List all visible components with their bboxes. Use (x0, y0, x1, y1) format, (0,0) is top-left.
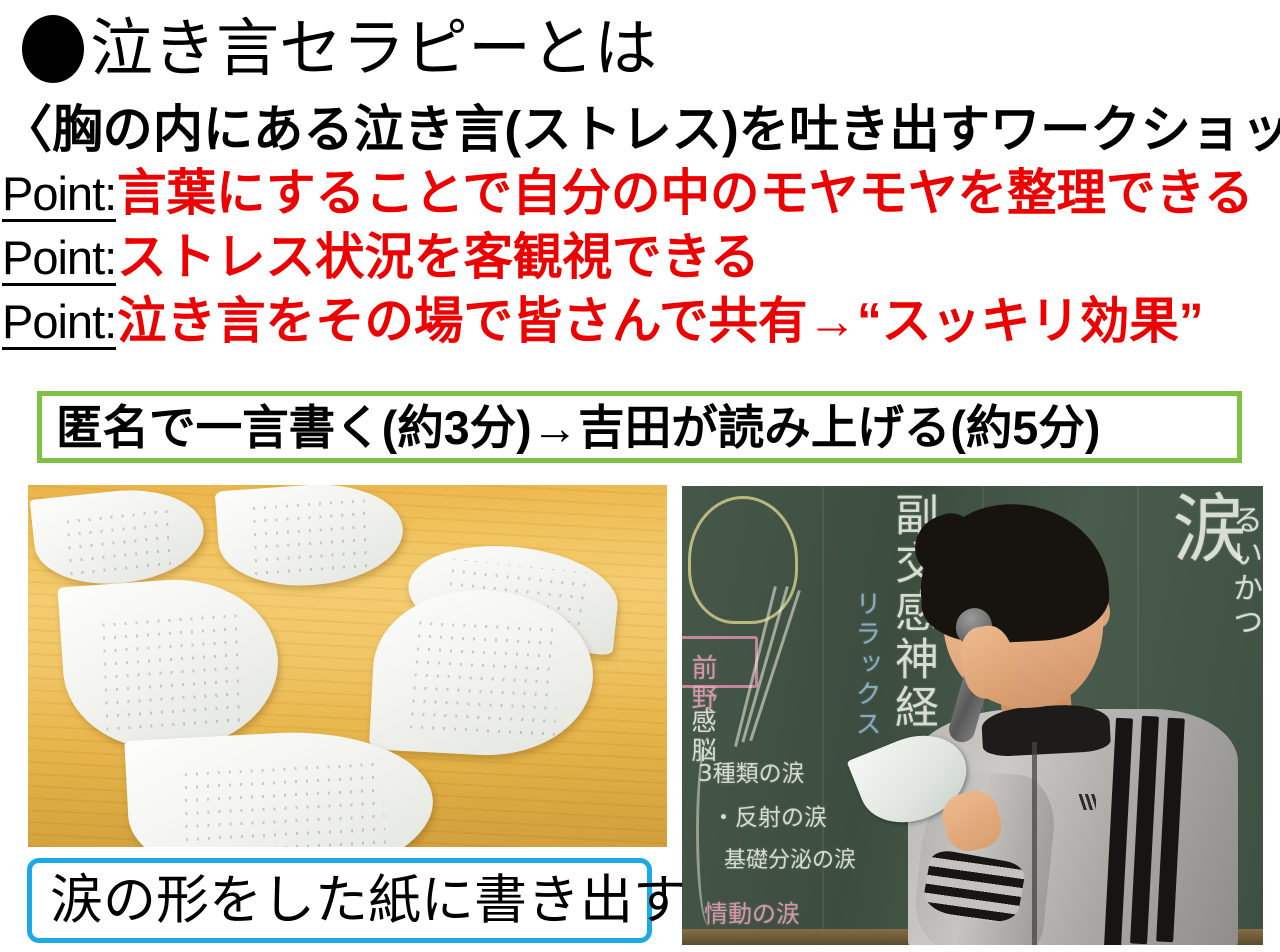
brand-logo-icon (1070, 794, 1096, 810)
blue-caption-text: 涙の形をした紙に書き出す (50, 874, 686, 927)
green-callout-text: 匿名で一言書く(約3分)→吉田が読み上げる(約5分) (56, 404, 1100, 451)
slide-root: 泣き言セラピーとは 〈胸の内にある泣き言(ストレス)を吐き出すワークショップ〉 … (0, 0, 1280, 952)
point-text-3: 泣き言をその場で皆さんで共有→“スッキリ効果” (117, 296, 1204, 346)
speaker-chalkboard-photo: 前野 感脳 3種類の涙 ・反射の涙 基礎分泌の涙 情動の涙 副交感神経 リラック… (679, 483, 1266, 948)
point-label-3: Point: (2, 298, 116, 350)
teardrop-papers-photo (28, 485, 667, 847)
chalk-note-3kinds: 3種類の涙 (698, 754, 805, 788)
chalk-note-joudou: 情動の涙 (704, 894, 800, 929)
subtitle-text: 〈胸の内にある泣き言(ストレス)を吐き出すワークショップ〉 (2, 104, 1261, 156)
chalk-note-maeno: 前野 (684, 654, 721, 714)
point-label-2: Point: (2, 234, 116, 286)
point-row-3: Point: 泣き言をその場で皆さんで共有→“スッキリ効果” (2, 296, 1280, 360)
point-row-2: Point: ストレス状況を客観視できる (2, 232, 1280, 296)
points-list: Point: 言葉にすることで自分の中のモヤモヤを整理できる Point: スト… (2, 168, 1280, 360)
chalk-note-kiso: 基礎分泌の涙 (724, 842, 856, 874)
speaker-figure (874, 504, 1254, 948)
page-title: 泣き言セラピーとは (22, 6, 657, 92)
chalk-note-hansha: ・反射の涙 (712, 798, 827, 832)
title-text: 泣き言セラピーとは (90, 18, 657, 81)
filled-circle-bullet-icon (22, 15, 84, 83)
green-callout-box: 匿名で一言書く(約3分)→吉田が読み上げる(約5分) (37, 391, 1242, 463)
point-text-2: ストレス状況を客観視できる (117, 232, 760, 282)
blue-caption-box: 涙の形をした紙に書き出す (27, 858, 652, 943)
point-row-1: Point: 言葉にすることで自分の中のモヤモヤを整理できる (2, 168, 1280, 232)
jacket-zipper (1032, 742, 1037, 947)
point-label-1: Point: (2, 170, 116, 222)
point-text-1: 言葉にすることで自分の中のモヤモヤを整理できる (117, 168, 1254, 218)
